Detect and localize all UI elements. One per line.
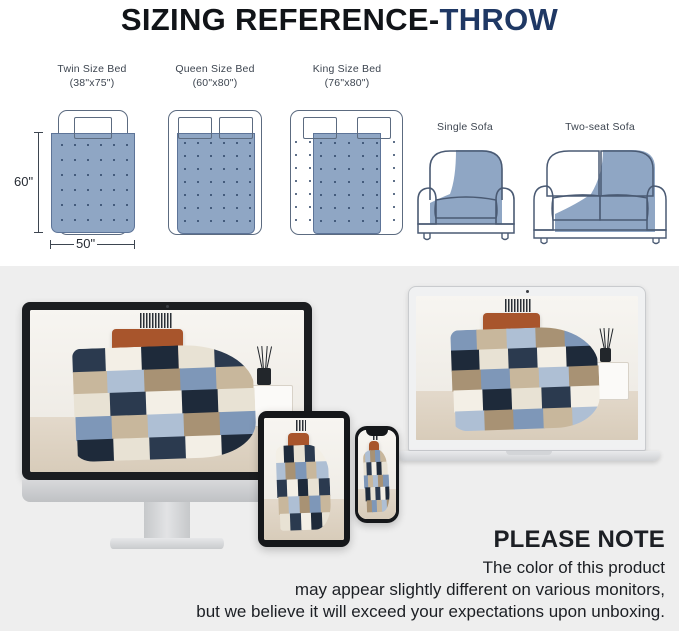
queen-pillow-left [178, 117, 212, 139]
phone-bezel [355, 426, 399, 523]
diagram-queen-bed: Queen Size Bed (60"x80") [155, 62, 275, 90]
page-title-accent: THROW [439, 2, 558, 37]
king-throw-overlay [313, 133, 381, 234]
twin-height-tick-top [34, 132, 43, 133]
king-bed-frame [290, 110, 403, 235]
product-photo-phone [358, 430, 396, 519]
note-line-2: may appear slightly different on various… [196, 579, 665, 601]
smartphone [355, 426, 399, 523]
twin-width-tick-right [134, 240, 135, 249]
two-seat-sofa-illustration [525, 138, 675, 246]
please-note-block: PLEASE NOTE The color of this product ma… [196, 525, 665, 623]
note-line-1: The color of this product [196, 557, 665, 579]
diagram-two-seat-sofa: Two-seat Sofa [525, 120, 675, 134]
phone-screen [358, 430, 396, 519]
device-preview-section: PLEASE NOTE The color of this product ma… [0, 266, 679, 631]
diagram-queen-bed-label: Queen Size Bed (60"x80") [155, 62, 275, 90]
twin-width-tick-left [50, 240, 51, 249]
queen-throw-dots [178, 134, 254, 233]
product-photo-tablet [264, 418, 344, 540]
diagram-king-bed-label: King Size Bed (76"x80") [282, 62, 412, 90]
twin-width-label: 50" [74, 236, 97, 251]
king-throw-dots [314, 134, 380, 233]
diagram-single-sofa: Single Sofa [410, 120, 520, 134]
twin-height-tick-bottom [34, 232, 43, 233]
king-pillow-left [303, 117, 337, 139]
laptop-trackpad-notch [506, 451, 552, 455]
diagram-single-sofa-label: Single Sofa [410, 120, 520, 134]
note-heading: PLEASE NOTE [196, 525, 665, 555]
twin-throw-overlay [51, 133, 135, 233]
single-sofa-illustration [410, 138, 520, 246]
page-title-primary: SIZING REFERENCE- [121, 2, 440, 37]
diagram-twin-bed: Twin Size Bed (38"x75") 60" [22, 62, 162, 90]
sizing-reference-infographic: SIZING REFERENCE-THROW Twin Size Bed (38… [0, 0, 679, 631]
queen-throw-overlay [177, 133, 255, 234]
sizing-reference-section: SIZING REFERENCE-THROW Twin Size Bed (38… [0, 0, 679, 266]
page-title: SIZING REFERENCE-THROW [0, 0, 679, 40]
queen-bed-frame [168, 110, 262, 235]
laptop-webcam-icon [526, 290, 529, 293]
twin-height-label: 60" [12, 174, 35, 189]
diagram-twin-bed-label: Twin Size Bed (38"x75") [22, 62, 162, 90]
monitor-stand-neck [144, 502, 190, 542]
product-photo-laptop [416, 296, 638, 440]
phone-notch [366, 430, 388, 436]
twin-bed-frame [58, 110, 128, 235]
laptop-screen [416, 296, 638, 440]
diagram-king-bed: King Size Bed (76"x80") [282, 62, 412, 90]
queen-pillow-right [219, 117, 253, 139]
diagram-two-seat-sofa-label: Two-seat Sofa [525, 120, 675, 134]
note-line-3: but we believe it will exceed your expec… [196, 601, 665, 623]
size-diagram-group: Twin Size Bed (38"x75") 60" [0, 62, 679, 262]
twin-height-dimension-line [38, 132, 39, 232]
monitor-webcam-icon [166, 305, 169, 308]
twin-throw-dots [52, 134, 134, 232]
laptop-bezel [408, 286, 646, 451]
king-pillow-right [357, 117, 391, 139]
laptop [398, 286, 668, 476]
tablet-screen [264, 418, 344, 540]
twin-pillow [74, 117, 112, 139]
